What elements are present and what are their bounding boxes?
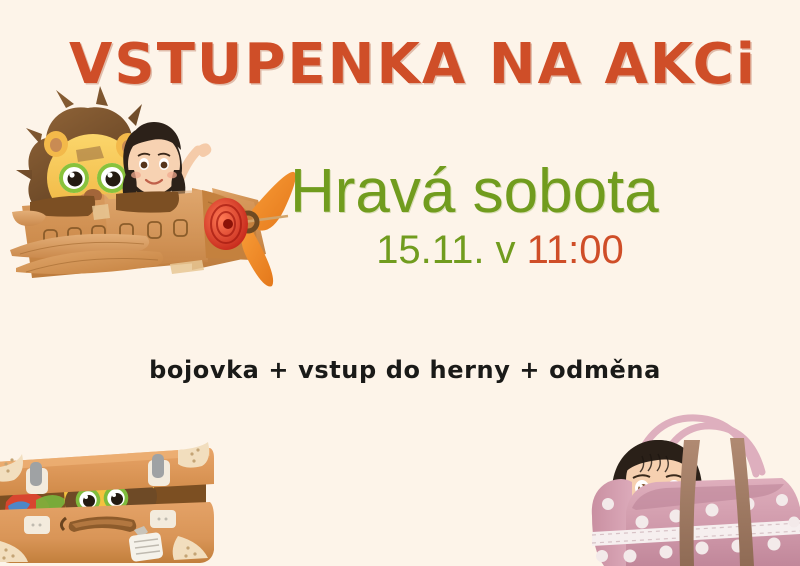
cardboard-airplane-illustration bbox=[0, 78, 296, 296]
event-ticket-poster: VSTUPENKA NA AKCi Hravá sobota 15.11. v … bbox=[0, 0, 800, 566]
pink-duffel-bag-illustration bbox=[588, 404, 800, 566]
open-suitcase-illustration bbox=[0, 440, 216, 566]
event-date: 15.11. v bbox=[376, 228, 526, 272]
page-title-text: VSTUPENKA NA AKCi bbox=[43, 32, 757, 97]
event-name: Hravá sobota bbox=[290, 160, 720, 224]
ticket-includes: bojovka + vstup do herny + odměna bbox=[0, 356, 800, 384]
propeller bbox=[204, 172, 296, 287]
event-time: 11:00 bbox=[527, 228, 624, 272]
page-title: VSTUPENKA NA AKCi bbox=[0, 32, 800, 97]
event-datetime: 15.11. v 11:00 bbox=[290, 228, 710, 272]
